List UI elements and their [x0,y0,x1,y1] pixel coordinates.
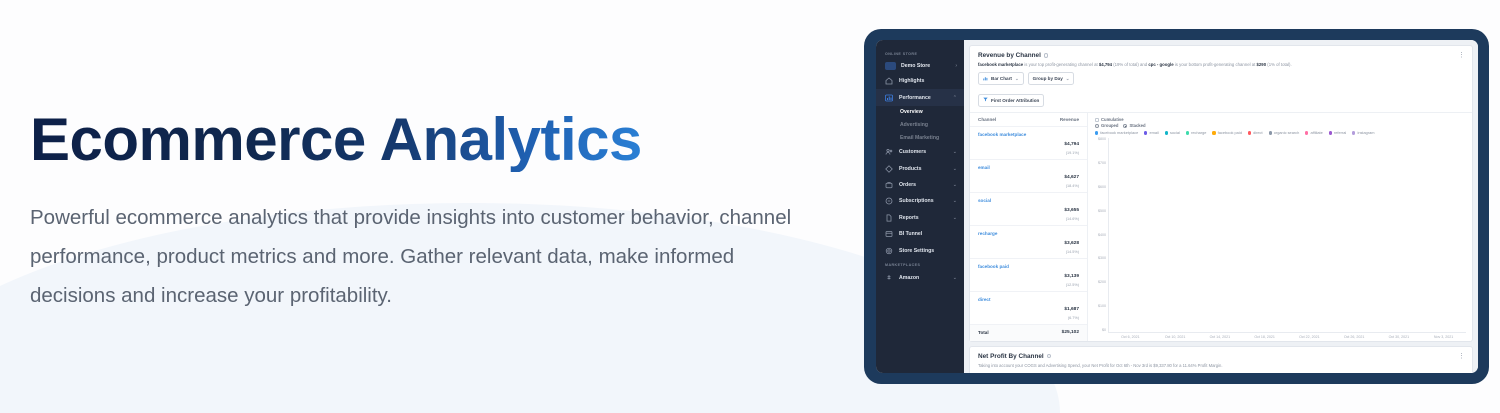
net-profit-subtitle: Taking into account your COGS and Advert… [978,363,1464,369]
chevron-down-icon: ⌄ [953,149,957,155]
sidebar-subitem-overview[interactable]: Overview [876,106,964,119]
legend-color-swatch [1144,131,1147,134]
database-icon [885,230,893,238]
cell-revenue: $3,139(12.5%) [1064,264,1079,287]
subtitle-bottom-channel: cpc - google [1148,62,1173,67]
chevron-down-icon: ⌄ [953,182,957,188]
hero-paragraph: Powerful ecommerce analytics that provid… [30,198,820,316]
table-row[interactable]: direct $1,687(6.7%) [970,291,1087,324]
sidebar-subitem-email-marketing[interactable]: Email Marketing [876,131,964,144]
legend-item[interactable]: email [1144,130,1159,135]
cell-percent: (6.7%) [1064,316,1079,320]
sidebar-item-customers[interactable]: Customers ⌄ [876,144,964,160]
table-row[interactable]: recharge $3,628(14.5%) [970,225,1087,258]
cell-percent: (14.6%) [1064,217,1079,221]
chart-bar-icon [885,94,893,102]
net-profit-header: Net Profit By Channel Taking into accoun… [970,347,1472,373]
amazon-icon [885,274,893,282]
sidebar-item-label: Highlights [899,78,957,84]
cell-amount: $3,655 [1064,208,1079,213]
sidebar-item-label: Amazon [899,275,947,281]
dashboard-main: Revenue by Channel facebook marketplace … [964,40,1478,373]
x-axis-tick: Oct 22, 2021 [1287,335,1332,339]
channel-revenue-table: Channel Revenue facebook marketplace $4,… [970,113,1088,340]
radio-selected-icon [1123,124,1127,128]
sidebar-item-label: Reports [899,215,947,221]
sidebar-item-label: Orders [899,182,947,188]
cell-amount: $4,627 [1064,175,1079,180]
cell-percent: (12.5%) [1064,283,1079,287]
legend-label: recharge [1191,130,1206,135]
legend-label: affiliate [1310,130,1322,135]
legend-item[interactable]: recharge [1186,130,1207,135]
legend-color-swatch [1165,131,1168,134]
table-row[interactable]: email $4,627(18.4%) [970,159,1087,192]
cell-revenue: $1,687(6.7%) [1064,297,1079,320]
chart-type-label: Bar Chart [991,76,1012,81]
cell-percent: (19.1%) [1064,151,1079,155]
chevron-down-icon: ⌄ [953,275,957,281]
sidebar-item-subscriptions[interactable]: Subscriptions ⌄ [876,193,964,209]
cell-channel[interactable]: direct [978,297,991,303]
sidebar-section-online-store: ONLINE STORE [876,48,964,59]
document-icon [885,214,893,222]
legend-item[interactable]: instagram [1352,130,1374,135]
legend-label: email [1149,130,1158,135]
sidebar-item-label: Products [899,166,947,172]
grouping-label: Group by Day [1033,76,1063,81]
chart-toolbar: Bar Chart ⌄ Group by Day ⌄ [970,72,1472,89]
legend-item[interactable]: referral [1329,130,1347,135]
y-axis-tick: $600 [1098,186,1106,190]
column-header-revenue: Revenue [1060,117,1079,122]
cell-amount: $4,794 [1064,142,1079,147]
sidebar-item-store-settings[interactable]: Store Settings [876,242,964,258]
cell-amount: $1,687 [1064,307,1079,312]
legend-item[interactable]: facebook paid [1212,130,1241,135]
x-axis: Oct 6, 2021Oct 10, 2021Oct 14, 2021Oct 1… [1093,333,1466,339]
y-axis-tick: $700 [1098,162,1106,166]
cell-channel[interactable]: recharge [978,231,997,237]
subtitle-text: is your bottom profit-generating channel… [1174,62,1257,67]
x-axis-tick: Oct 30, 2021 [1377,335,1422,339]
radio-icon [1095,124,1099,128]
chevron-down-icon: ⌄ [953,166,957,172]
revenue-card-header: Revenue by Channel facebook marketplace … [970,46,1472,72]
x-axis-tick: Oct 6, 2021 [1108,335,1153,339]
cell-channel[interactable]: facebook marketplace [978,132,1026,138]
dashboard-device-frame: ONLINE STORE Demo Store › Highlights Per… [864,29,1489,384]
chart-display-controls: Cumulative [1093,117,1466,122]
cell-channel[interactable]: social [978,198,991,204]
legend-label: facebook marketplace [1100,130,1138,135]
x-axis-tick: Oct 26, 2021 [1332,335,1377,339]
sidebar-subitem-advertising[interactable]: Advertising [876,119,964,132]
revenue-card-subtitle: facebook marketplace is your top profit-… [978,62,1464,68]
subtitle-text: is your top profit-generating channel at [1023,62,1099,67]
sidebar-item-bi-tunnel[interactable]: BI Tunnel [876,226,964,242]
bag-icon [885,181,893,189]
hero-section: Ecommerce Analytics Powerful ecommerce a… [0,0,1500,413]
net-profit-title: Net Profit By Channel [978,353,1044,360]
hero-copy: Ecommerce Analytics Powerful ecommerce a… [30,108,830,316]
sidebar-item-label: BI Tunnel [899,231,957,237]
chart-type-selector[interactable]: Bar Chart ⌄ [978,72,1024,85]
cell-amount: $3,628 [1064,241,1079,246]
chevron-down-icon: ⌄ [953,198,957,204]
sidebar-item-label: Performance [899,95,947,101]
first-order-attribution-button[interactable]: First Order Attribution [978,94,1044,107]
checkbox-icon [1095,118,1099,122]
home-icon [885,77,893,85]
cell-channel[interactable]: facebook paid [978,264,1009,270]
legend-label: facebook paid [1218,130,1242,135]
chart-bar-icon [983,76,988,82]
legend-label: direct [1253,130,1263,135]
chart-legend: facebook marketplaceemailsocialrechargef… [1093,128,1466,138]
cell-percent: (14.5%) [1064,250,1079,254]
table-row[interactable]: facebook marketplace $4,794(19.1%) [970,126,1087,159]
revenue-stacked-bar-chart: Cumulative Grouped Stacked facebook mark… [1088,113,1472,340]
sidebar-item-reports[interactable]: Reports ⌄ [876,210,964,226]
table-row[interactable]: facebook paid $3,139(12.5%) [970,258,1087,291]
cell-revenue: $4,794(19.1%) [1064,132,1079,155]
cell-amount: $3,139 [1064,274,1079,279]
sidebar-store-switcher[interactable]: Demo Store › [876,59,964,73]
net-profit-by-channel-card: Net Profit By Channel Taking into accoun… [969,346,1473,373]
cumulative-checkbox[interactable]: Cumulative [1095,117,1124,122]
sidebar-item-label: Store Settings [899,248,957,254]
legend-item[interactable]: facebook marketplace [1095,130,1138,135]
cell-revenue: $3,628(14.5%) [1064,231,1079,254]
y-axis-tick: $500 [1098,210,1106,214]
sidebar-item-products[interactable]: Products ⌄ [876,160,964,176]
grouping-selector[interactable]: Group by Day ⌄ [1028,72,1075,85]
table-header: Channel Revenue [970,113,1087,126]
legend-color-swatch [1269,131,1272,134]
chevron-down-icon: ⌄ [1015,76,1019,82]
users-icon [885,148,893,156]
x-axis-tick: Oct 14, 2021 [1198,335,1243,339]
table-row[interactable]: social $3,655(14.6%) [970,192,1087,225]
sidebar-item-amazon[interactable]: Amazon ⌄ [876,270,964,286]
sidebar: ONLINE STORE Demo Store › Highlights Per… [876,40,964,373]
legend-color-swatch [1095,131,1098,134]
chevron-down-icon: ⌄ [1066,76,1070,82]
sidebar-item-label: Customers [899,149,947,155]
chevron-down-icon: ⌄ [953,215,957,221]
legend-item[interactable]: organic search [1269,130,1300,135]
net-profit-title-row: Net Profit By Channel [978,353,1464,360]
legend-item[interactable]: direct [1248,130,1263,135]
more-options-icon[interactable]: ⋮ [1458,53,1465,59]
cell-percent: (18.4%) [1064,184,1079,188]
info-icon[interactable] [1047,354,1051,358]
x-axis-tick: Oct 10, 2021 [1153,335,1198,339]
x-axis-tick: Oct 18, 2021 [1242,335,1287,339]
legend-item[interactable]: social [1165,130,1180,135]
y-axis-tick: $200 [1098,281,1106,285]
sidebar-section-marketplaces: MARKETPLACES [876,259,964,270]
legend-color-swatch [1329,131,1332,134]
sidebar-item-performance[interactable]: Performance ⌃ [876,89,964,105]
plot-body: $800$700$600$500$400$300$200$100$0 [1093,138,1466,332]
filter-icon [983,97,988,103]
store-name-label: Demo Store [901,63,950,69]
sidebar-item-highlights[interactable]: Highlights [876,73,964,89]
legend-color-swatch [1212,131,1215,134]
subtitle-top-amount: $4,794 [1099,62,1112,67]
more-options-icon[interactable]: ⋮ [1458,354,1465,360]
cell-revenue: $3,655(14.6%) [1064,198,1079,221]
y-axis-tick: $300 [1098,257,1106,261]
chevron-right-icon: › [955,63,957,69]
bars-container [1108,138,1466,332]
legend-item[interactable]: affiliate [1305,130,1322,135]
info-icon[interactable] [1044,53,1048,57]
x-axis-tick: Nov 3, 2021 [1421,335,1466,339]
legend-label: referral [1334,130,1346,135]
y-axis: $800$700$600$500$400$300$200$100$0 [1093,138,1108,332]
cumulative-label: Cumulative [1101,117,1124,122]
legend-color-swatch [1305,131,1308,134]
page-title: Ecommerce Analytics [30,108,830,172]
dashboard-screen: ONLINE STORE Demo Store › Highlights Per… [876,40,1478,373]
chevron-up-icon: ⌃ [953,95,957,101]
sidebar-item-label: Subscriptions [899,198,947,204]
column-header-channel: Channel [978,117,996,122]
chart-and-table: Channel Revenue facebook marketplace $4,… [970,112,1472,340]
table-row-total: Total $25,102 [970,324,1087,340]
subtitle-text: (19% of total) and [1112,62,1148,67]
cell-channel[interactable]: email [978,165,990,171]
cell-total-label: Total [978,330,989,336]
subtitle-text: (1% of total). [1266,62,1292,67]
legend-color-swatch [1248,131,1251,134]
store-logo-icon [885,62,896,70]
page-title: Revenue by Channel [978,52,1041,59]
legend-color-swatch [1352,131,1355,134]
gear-icon [885,247,893,255]
y-axis-tick: $100 [1098,305,1106,309]
tag-icon [885,165,893,173]
revenue-card-title-row: Revenue by Channel [978,52,1464,59]
legend-label: instagram [1357,130,1374,135]
legend-label: organic search [1274,130,1300,135]
subtitle-top-channel: facebook marketplace [978,62,1023,67]
cell-total-amount: $25,102 [1062,330,1079,335]
y-axis-tick: $400 [1098,234,1106,238]
legend-color-swatch [1186,131,1189,134]
refresh-icon [885,197,893,205]
attribution-label: First Order Attribution [991,98,1039,103]
subtitle-bottom-amount: $290 [1257,62,1267,67]
revenue-by-channel-card: Revenue by Channel facebook marketplace … [969,45,1473,342]
y-axis-tick: $800 [1098,138,1106,142]
legend-label: social [1170,130,1180,135]
cell-revenue: $4,627(18.4%) [1064,165,1079,188]
attribution-row: First Order Attribution [970,89,1472,112]
sidebar-item-orders[interactable]: Orders ⌄ [876,177,964,193]
